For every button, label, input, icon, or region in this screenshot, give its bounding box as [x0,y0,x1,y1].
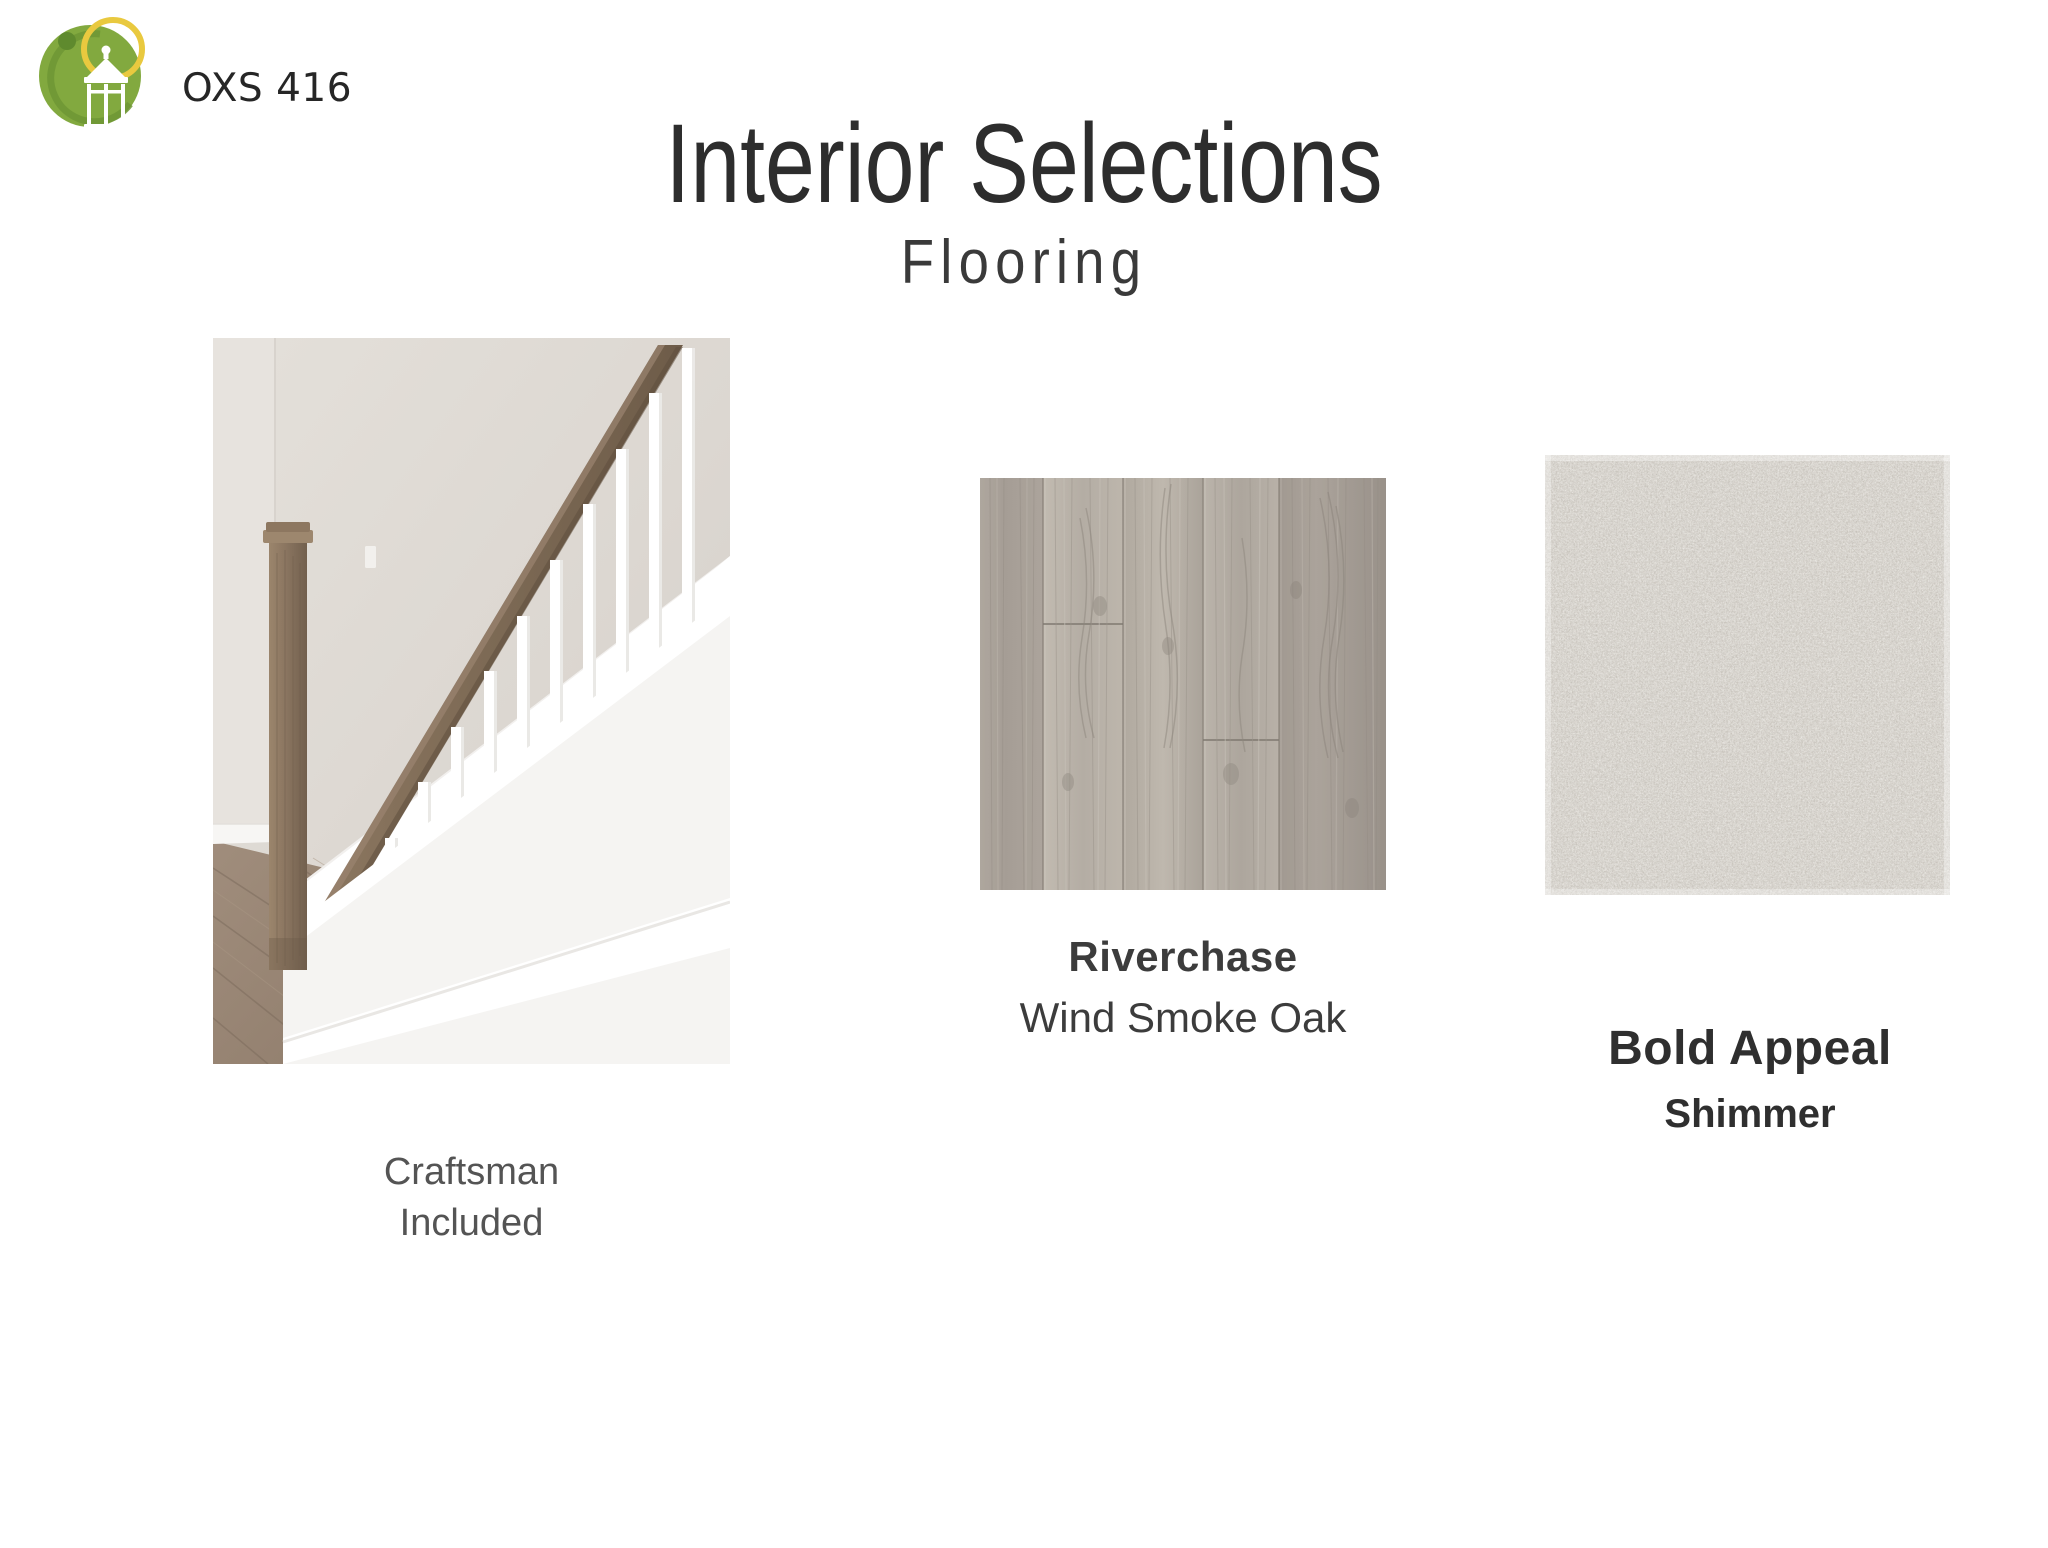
caption-wood-subtitle: Wind Smoke Oak [960,991,1406,1046]
caption-carpet-subtitle: Shimmer [1530,1088,1970,1140]
caption-wood-title: Riverchase [960,930,1406,985]
plan-code-label: OXS 416 [182,66,352,111]
selection-item-wood[interactable] [980,478,1386,890]
page-subtitle: Flooring [123,232,1925,294]
staircase-photo [213,338,730,1064]
slide-canvas: OXS 416 Interior Selections Flooring [0,0,2048,1548]
caption-wood: Riverchase Wind Smoke Oak [960,930,1406,1045]
caption-stairs: Craftsman Included [213,1148,730,1249]
selection-item-carpet[interactable] [1545,455,1950,895]
selection-item-stairs[interactable] [213,338,730,1064]
caption-carpet: Bold Appeal Shimmer [1530,1018,1970,1140]
carpet-pile-swatch [1545,455,1950,895]
page-title: Interior Selections [205,108,1843,220]
lantern-logo-icon [30,8,165,133]
caption-carpet-title: Bold Appeal [1530,1018,1970,1080]
caption-stairs-subtitle: Included [213,1199,730,1248]
wood-plank-flooring-swatch [980,478,1386,890]
caption-stairs-title: Craftsman [213,1148,730,1197]
